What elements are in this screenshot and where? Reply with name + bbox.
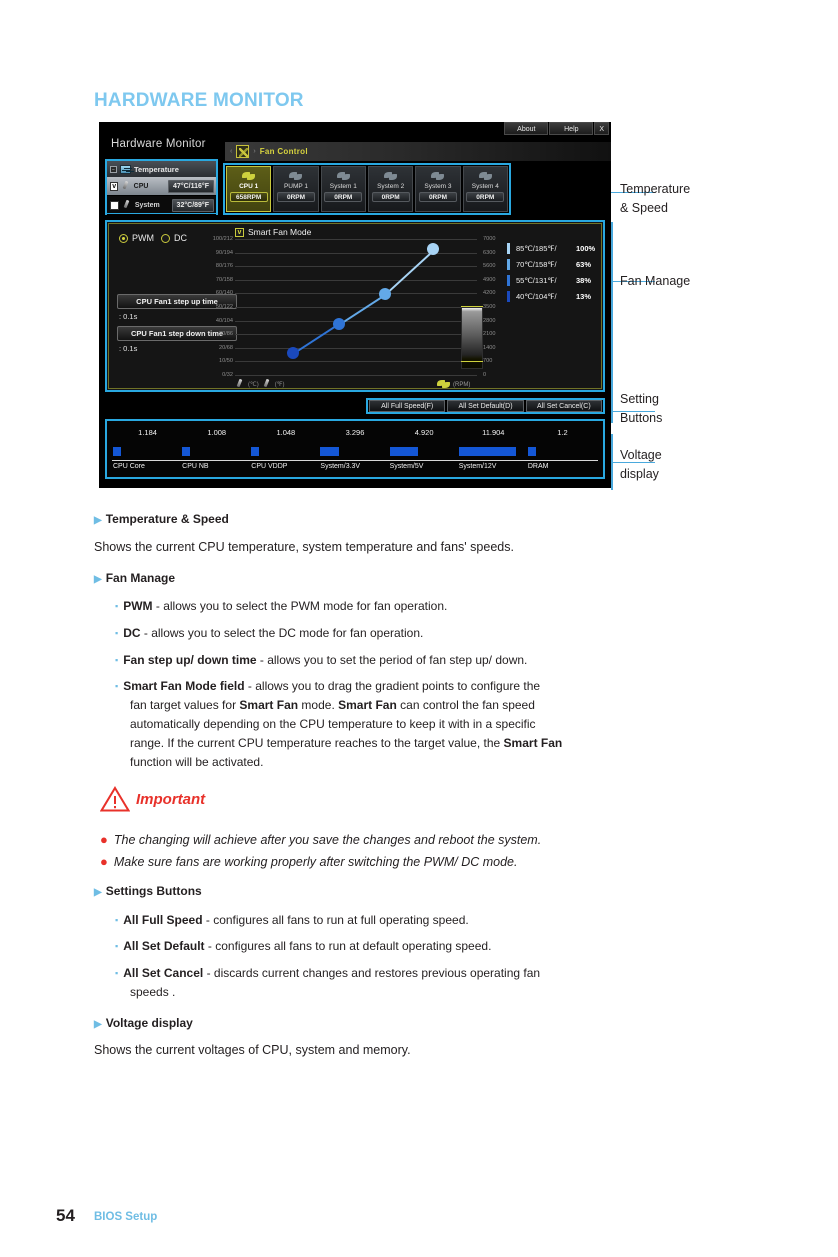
page-number: 54 bbox=[56, 1206, 75, 1226]
chart-gridline bbox=[235, 266, 477, 267]
fan-tab-system-4[interactable]: System 4 0RPM bbox=[463, 166, 508, 212]
chart-ytick-label: 80/176 bbox=[216, 263, 233, 269]
legend-color-swatch bbox=[507, 259, 510, 270]
fan-tab-label: System 3 bbox=[424, 183, 451, 190]
fan-gradient-bar[interactable] bbox=[461, 307, 483, 369]
about-button[interactable]: About bbox=[504, 122, 548, 135]
system-temp-value: 32°C/89°F bbox=[172, 199, 214, 212]
fan-curve-chart[interactable]: 100/212700090/194630080/176560070/158490… bbox=[235, 239, 477, 375]
voltage-display-panel: 1.184CPU Core1.008CPU NB1.048CPU VDDP3.2… bbox=[105, 419, 605, 479]
chart-gradient-point-1[interactable] bbox=[287, 347, 299, 359]
fan-tab-rpm: 0RPM bbox=[419, 192, 457, 202]
pen-icon bbox=[262, 379, 272, 389]
callout-label-line1: Temperature & Speed bbox=[620, 182, 690, 215]
fan-gradient-top-tick bbox=[461, 306, 483, 307]
callout-fan-manage: Fan Manage bbox=[620, 272, 690, 291]
callout-voltage-display: Voltage display bbox=[620, 446, 750, 484]
fan-gradient-bottom-tick bbox=[461, 361, 483, 362]
chart-rpm-tick-label: 4200 bbox=[483, 290, 495, 296]
chart-rpm-tick-label: 2100 bbox=[483, 331, 495, 337]
fan-tab-rpm: 0RPM bbox=[277, 192, 315, 202]
list-item-smart-fan-mode: ▪Smart Fan Mode field - allows you to dr… bbox=[115, 677, 735, 696]
chart-ytick-label: 10/50 bbox=[219, 358, 233, 364]
bios-hardware-monitor-screenshot: About Help X Hardware Monitor ‹ › Fan Co… bbox=[99, 122, 611, 488]
smart-fan-mode-header: v Smart Fan Mode bbox=[235, 227, 311, 237]
legend-percent: 38% bbox=[576, 276, 591, 285]
heading-fan-manage: ▶Fan Manage bbox=[94, 571, 175, 585]
triangle-icon: ▶ bbox=[94, 574, 102, 585]
chevron-right-icon[interactable]: › bbox=[253, 148, 255, 155]
important-heading: Important bbox=[100, 786, 205, 812]
chart-gridline bbox=[235, 293, 477, 294]
fan-tab-rpm: 0RPM bbox=[466, 192, 504, 202]
pen-icon bbox=[235, 379, 245, 389]
dc-label: DC bbox=[174, 233, 187, 243]
temperature-panel-header: − Temperature bbox=[107, 161, 216, 177]
fan-tab-pump-1[interactable]: PUMP 1 0RPM bbox=[273, 166, 318, 212]
voltage-bar bbox=[459, 447, 516, 456]
list-item-all-full-speed: ▪All Full Speed - configures all fans to… bbox=[115, 911, 469, 930]
legend-temp: 85℃/185℉/ bbox=[516, 244, 570, 253]
callout-label: Fan Manage bbox=[620, 274, 690, 288]
cpu-checkbox[interactable]: v bbox=[110, 182, 118, 191]
chart-rpm-tick-label: 3500 bbox=[483, 304, 495, 310]
list-item-smart-fan-mode-line5: function will be activated. bbox=[130, 753, 263, 772]
triangle-icon: ▶ bbox=[94, 1019, 102, 1030]
chart-gridline bbox=[235, 321, 477, 322]
voltage-value: 3.296 bbox=[346, 428, 365, 437]
cpu-temp-label: CPU bbox=[134, 183, 165, 190]
chart-ytick-label: 40/104 bbox=[216, 318, 233, 324]
square-bullet-icon: ▪ bbox=[115, 628, 118, 638]
triangle-icon: ▶ bbox=[94, 515, 102, 526]
chart-gridline bbox=[235, 239, 477, 240]
voltage-bar bbox=[528, 447, 536, 456]
voltage-label: DRAM bbox=[528, 463, 549, 470]
fan-tab-rpm: 658RPM bbox=[230, 192, 268, 202]
list-item-all-set-cancel: ▪All Set Cancel - discards current chang… bbox=[115, 964, 540, 983]
voltage-value: 1.2 bbox=[557, 428, 567, 437]
voltage-label: System/12V bbox=[459, 463, 497, 470]
legend-temp: 55℃/131℉/ bbox=[516, 276, 570, 285]
help-button[interactable]: Help bbox=[549, 122, 593, 135]
voltage-label: System/5V bbox=[390, 463, 424, 470]
chart-gradient-point-2[interactable] bbox=[333, 318, 345, 330]
chart-line-segment bbox=[384, 250, 433, 295]
fan-icon bbox=[437, 378, 450, 390]
fan-icon bbox=[479, 170, 492, 182]
chart-line-segment bbox=[293, 324, 340, 355]
legend-temp: 40℃/104℉/ bbox=[516, 292, 570, 301]
fan-tab-strip: CPU 1 658RPM PUMP 1 0RPM System 1 0RPM S… bbox=[223, 163, 511, 215]
dc-radio[interactable] bbox=[161, 234, 170, 243]
temperature-panel-title: Temperature bbox=[134, 165, 179, 174]
temperature-panel: − Temperature v CPU 47°C/116°F System 32… bbox=[105, 159, 218, 215]
chart-ytick-label: 90/194 bbox=[216, 250, 233, 256]
system-checkbox[interactable] bbox=[110, 201, 119, 210]
voltage-bar bbox=[251, 447, 259, 456]
pwm-label: PWM bbox=[132, 233, 154, 243]
voltage-value: 1.184 bbox=[138, 428, 157, 437]
smart-fan-mode-checkbox[interactable]: v bbox=[235, 228, 244, 237]
fan-icon bbox=[337, 170, 350, 182]
fan-tab-label: System 1 bbox=[330, 183, 357, 190]
heading-settings-buttons: ▶Settings Buttons bbox=[94, 884, 202, 898]
pen-icon bbox=[122, 200, 132, 210]
important-note-1: ●The changing will achieve after you sav… bbox=[100, 830, 541, 850]
legend-percent: 100% bbox=[576, 244, 595, 253]
chart-rpm-tick-label: 700 bbox=[483, 358, 492, 364]
list-item-smart-fan-mode-line4: range. If the current CPU temperature re… bbox=[130, 734, 750, 753]
chart-rpm-tick-label: 2800 bbox=[483, 318, 495, 324]
legend-row: 55℃/131℉/ 38% bbox=[507, 272, 603, 288]
chart-gridline bbox=[235, 375, 477, 376]
cpu-temp-value: 47°C/116°F bbox=[168, 180, 214, 193]
fan-mode-radio-group: PWM DC bbox=[119, 233, 187, 243]
callout-label: Setting Buttons bbox=[620, 392, 662, 425]
chart-ytick-label: 20/68 bbox=[219, 345, 233, 351]
legend-row: 85℃/185℉/ 100% bbox=[507, 240, 603, 256]
callout-bracket-fan-manage bbox=[611, 222, 613, 402]
list-item-all-set-cancel-line2: speeds . bbox=[130, 983, 175, 1002]
callout-temperature-speed: Temperature & Speed bbox=[620, 180, 750, 218]
voltage-bar bbox=[113, 447, 121, 456]
voltage-bar bbox=[320, 447, 339, 456]
chart-gridline bbox=[235, 253, 477, 254]
voltage-value: 1.008 bbox=[207, 428, 226, 437]
fan-icon bbox=[384, 170, 397, 182]
chart-rpm-tick-label: 6300 bbox=[483, 250, 495, 256]
callout-bracket-setting-buttons bbox=[611, 401, 613, 423]
collapse-icon[interactable]: − bbox=[110, 166, 117, 173]
important-note-2: ●Make sure fans are working properly aft… bbox=[100, 852, 518, 872]
fan-curve-legend: 85℃/185℉/ 100% 70℃/158℉/ 63% 55℃/131℉/ 3… bbox=[507, 240, 603, 304]
legend-row: 70℃/158℉/ 63% bbox=[507, 256, 603, 272]
paragraph-temperature-speed: Shows the current CPU temperature, syste… bbox=[94, 538, 514, 557]
system-temp-label: System bbox=[135, 202, 169, 209]
chart-gridline bbox=[235, 361, 477, 362]
setting-buttons-row: All Full Speed(F) All Set Default(D) All… bbox=[366, 398, 605, 414]
fan-icon bbox=[431, 170, 444, 182]
chevron-left-icon[interactable]: ‹ bbox=[230, 148, 232, 155]
voltage-bar bbox=[182, 447, 190, 456]
chart-ytick-label: 60/140 bbox=[216, 290, 233, 296]
square-bullet-icon: ▪ bbox=[115, 968, 118, 978]
chart-ytick-label: 30/86 bbox=[219, 331, 233, 337]
round-bullet-icon: ● bbox=[100, 832, 108, 847]
legend-row: 40℃/104℉/ 13% bbox=[507, 288, 603, 304]
axis-unit-celsius: (℃) bbox=[248, 381, 259, 388]
chart-rpm-tick-label: 0 bbox=[483, 372, 486, 378]
legend-color-swatch bbox=[507, 291, 510, 302]
page-title: HARDWARE MONITOR bbox=[94, 90, 304, 112]
voltage-axis-line bbox=[112, 460, 598, 461]
list-item-fan-step-time: ▪Fan step up/ down time - allows you to … bbox=[115, 651, 527, 670]
chart-gradient-point-3[interactable] bbox=[379, 288, 391, 300]
fan-tab-system-2[interactable]: System 2 0RPM bbox=[368, 166, 413, 212]
square-bullet-icon: ▪ bbox=[115, 941, 118, 951]
fan-icon bbox=[242, 170, 255, 182]
fan-control-icon bbox=[236, 145, 249, 158]
square-bullet-icon: ▪ bbox=[115, 655, 118, 665]
legend-color-swatch bbox=[507, 275, 510, 286]
smart-fan-mode-label: Smart Fan Mode bbox=[248, 227, 311, 237]
legend-color-swatch bbox=[507, 243, 510, 254]
fan-tab-label: System 4 bbox=[472, 183, 499, 190]
list-item-dc: ▪DC - allows you to select the DC mode f… bbox=[115, 624, 423, 643]
close-icon[interactable]: X bbox=[594, 122, 609, 135]
callout-label: Voltage display bbox=[620, 448, 662, 481]
bios-window-title: Hardware Monitor bbox=[111, 138, 206, 150]
axis-unit-rpm: (RPM) bbox=[453, 382, 470, 388]
voltage-bar bbox=[390, 447, 418, 456]
chart-gridline bbox=[235, 280, 477, 281]
voltage-value: 4.920 bbox=[415, 428, 434, 437]
chart-ytick-label: 50/122 bbox=[216, 304, 233, 310]
fan-tab-label: CPU 1 bbox=[239, 183, 258, 190]
chart-axis-footer: (℃) (℉) bbox=[235, 379, 284, 389]
chart-rpm-tick-label: 1400 bbox=[483, 345, 495, 351]
list-item-smart-fan-mode-line3: automatically depending on the CPU tempe… bbox=[130, 715, 750, 734]
fan-tab-rpm: 0RPM bbox=[372, 192, 410, 202]
important-label: Important bbox=[136, 791, 205, 808]
square-bullet-icon: ▪ bbox=[115, 915, 118, 925]
breadcrumb-label: Fan Control bbox=[260, 147, 308, 156]
fan-tab-system-3[interactable]: System 3 0RPM bbox=[415, 166, 460, 212]
bios-titlebar: About Help X bbox=[99, 122, 611, 138]
heading-voltage-display: ▶Voltage display bbox=[94, 1016, 193, 1030]
breadcrumb: ‹ › Fan Control bbox=[225, 142, 611, 161]
fan-tab-system-1[interactable]: System 1 0RPM bbox=[321, 166, 366, 212]
heading-temperature-speed: ▶Temperature & Speed bbox=[94, 512, 229, 526]
pwm-radio[interactable] bbox=[119, 234, 128, 243]
legend-percent: 63% bbox=[576, 260, 591, 269]
chart-ytick-label: 70/158 bbox=[216, 277, 233, 283]
cpu-fan1-step-down-time-value: : 0.1s bbox=[119, 344, 137, 353]
all-set-default-button[interactable]: All Set Default(D) bbox=[447, 400, 523, 412]
thermometer-icon bbox=[120, 165, 131, 174]
fan-icon bbox=[289, 170, 302, 182]
fan-manage-panel: PWM DC CPU Fan1 step up time : 0.1s CPU … bbox=[105, 220, 605, 392]
fan-tab-label: System 2 bbox=[377, 183, 404, 190]
chart-ytick-label: 100/212 bbox=[213, 236, 233, 242]
pen-icon bbox=[121, 181, 130, 191]
footer-label: BIOS Setup bbox=[94, 1211, 157, 1223]
chart-rpm-tick-label: 4900 bbox=[483, 277, 495, 283]
round-bullet-icon: ● bbox=[100, 854, 108, 869]
list-item-pwm: ▪PWM - allows you to select the PWM mode… bbox=[115, 597, 447, 616]
square-bullet-icon: ▪ bbox=[115, 601, 118, 611]
list-item-smart-fan-mode-line2: fan target values for Smart Fan mode. Sm… bbox=[130, 696, 750, 715]
triangle-icon: ▶ bbox=[94, 887, 102, 898]
fan-tab-cpu-1[interactable]: CPU 1 658RPM bbox=[226, 166, 271, 212]
chart-rpm-tick-label: 5600 bbox=[483, 263, 495, 269]
fan-tab-rpm: 0RPM bbox=[324, 192, 362, 202]
temperature-row-system[interactable]: System 32°C/89°F bbox=[107, 196, 216, 215]
chart-rpm-tick-label: 7000 bbox=[483, 236, 495, 242]
cpu-fan1-step-up-time-value: : 0.1s bbox=[119, 312, 137, 321]
axis-unit-fahrenheit: (℉) bbox=[275, 381, 285, 388]
manual-page: HARDWARE MONITOR About Help X Hardware M… bbox=[0, 0, 838, 1257]
chart-rpm-footer: (RPM) bbox=[437, 378, 470, 391]
fan-tab-label: PUMP 1 bbox=[284, 183, 308, 190]
chart-gridline bbox=[235, 307, 477, 308]
bios-window-buttons: About Help X bbox=[504, 122, 609, 135]
voltage-label: CPU VDDP bbox=[251, 463, 287, 470]
all-set-cancel-button[interactable]: All Set Cancel(C) bbox=[526, 400, 602, 412]
temperature-row-cpu[interactable]: v CPU 47°C/116°F bbox=[107, 177, 216, 196]
chart-ytick-label: 0/32 bbox=[222, 372, 233, 378]
voltage-value: 1.048 bbox=[276, 428, 295, 437]
voltage-value: 11.904 bbox=[482, 428, 504, 437]
chart-gradient-point-4[interactable] bbox=[427, 243, 439, 255]
warning-triangle-icon bbox=[100, 786, 130, 812]
voltage-label: System/3.3V bbox=[320, 463, 360, 470]
paragraph-voltage-display: Shows the current voltages of CPU, syste… bbox=[94, 1041, 411, 1060]
list-item-all-set-default: ▪All Set Default - configures all fans t… bbox=[115, 937, 491, 956]
legend-percent: 13% bbox=[576, 292, 591, 301]
square-bullet-icon: ▪ bbox=[115, 681, 118, 691]
all-full-speed-button[interactable]: All Full Speed(F) bbox=[369, 400, 445, 412]
voltage-label: CPU NB bbox=[182, 463, 208, 470]
callout-setting-buttons: Setting Buttons bbox=[620, 390, 750, 428]
legend-temp: 70℃/158℉/ bbox=[516, 260, 570, 269]
voltage-label: CPU Core bbox=[113, 463, 145, 470]
chart-gridline bbox=[235, 348, 477, 349]
chart-gridline bbox=[235, 334, 477, 335]
